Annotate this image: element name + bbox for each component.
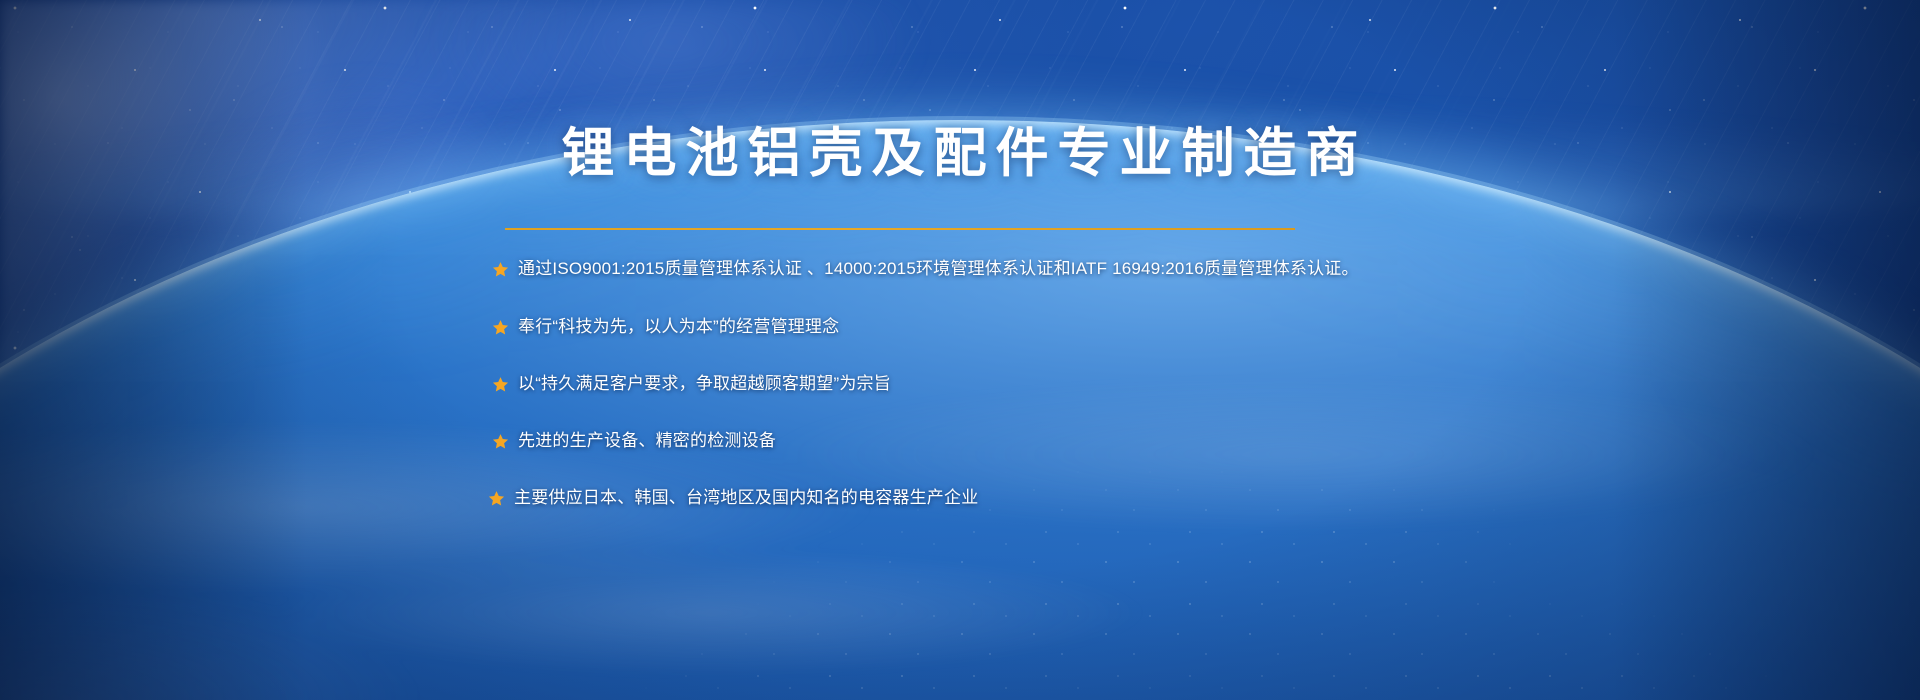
star-icon [492, 376, 509, 393]
list-item-label: 奉行“科技为先，以人为本”的经营管理理念 [518, 314, 839, 340]
list-item: 主要供应日本、韩国、台湾地区及国内知名的电容器生产企业 [488, 479, 1607, 517]
star-icon [492, 433, 509, 450]
list-item: 通过ISO9001:2015质量管理体系认证 、14000:2015环境管理体系… [492, 250, 1607, 288]
star-icon [492, 319, 509, 336]
list-item-label: 通过ISO9001:2015质量管理体系认证 、14000:2015环境管理体系… [518, 256, 1359, 282]
star-icon [488, 490, 505, 507]
list-item-label: 以“持久满足客户要求，争取超越顾客期望”为宗旨 [518, 371, 891, 397]
list-item: 以“持久满足客户要求，争取超越顾客期望”为宗旨 [492, 365, 1607, 403]
list-item: 奉行“科技为先，以人为本”的经营管理理念 [492, 308, 1607, 346]
gold-divider-rule [505, 228, 1295, 230]
feature-list: 通过ISO9001:2015质量管理体系认证 、14000:2015环境管理体系… [487, 250, 1607, 517]
hero-banner: 锂电池铝壳及配件专业制造商 通过ISO9001:2015质量管理体系认证 、14… [0, 0, 1920, 700]
list-item: 先进的生产设备、精密的检测设备 [492, 422, 1607, 460]
banner-headline: 锂电池铝壳及配件专业制造商 [0, 124, 1920, 183]
banner-content: 锂电池铝壳及配件专业制造商 通过ISO9001:2015质量管理体系认证 、14… [0, 0, 1920, 700]
list-item-label: 先进的生产设备、精密的检测设备 [518, 428, 776, 454]
list-item-label: 主要供应日本、韩国、台湾地区及国内知名的电容器生产企业 [514, 485, 978, 511]
star-icon [492, 261, 509, 278]
